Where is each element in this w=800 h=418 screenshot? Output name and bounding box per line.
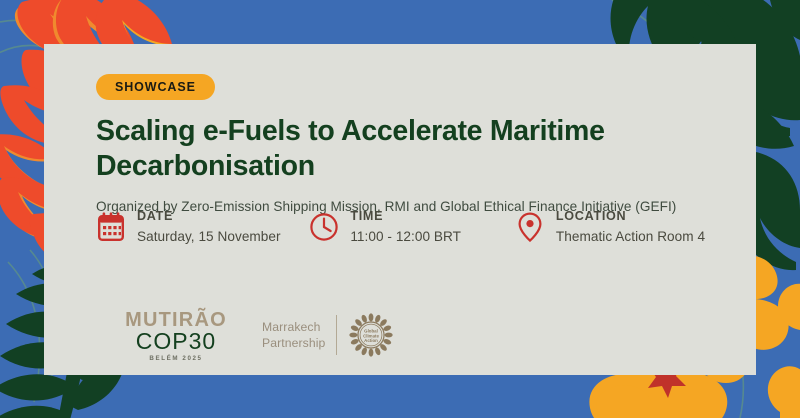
calendar-icon: [96, 210, 126, 244]
meta-item-date: DATE Saturday, 15 November: [96, 208, 309, 246]
page-title: Scaling e-Fuels to Accelerate Maritime D…: [96, 114, 696, 184]
location-pin-icon: [515, 210, 545, 244]
meta-value-date: Saturday, 15 November: [137, 227, 281, 247]
event-card: SHOWCASE Scaling e-Fuels to Accelerate M…: [44, 44, 756, 375]
meta-label-date: DATE: [137, 209, 281, 225]
logo-divider: [336, 315, 337, 355]
meta-item-location: LOCATION Thematic Action Room 4: [515, 208, 736, 246]
svg-text:Action: Action: [365, 338, 379, 343]
meta-item-time: TIME 11:00 - 12:00 BRT: [309, 208, 515, 246]
meta-value-location: Thematic Action Room 4: [556, 227, 705, 247]
cop30-logo: MUTIRÃO COP30 BELÉM 2025: [120, 306, 232, 364]
partnership-line2: Partnership: [262, 335, 325, 351]
logo-row: MUTIRÃO COP30 BELÉM 2025 Marrakech Partn…: [120, 306, 394, 364]
global-climate-action-seal: Global Climate Action: [348, 312, 394, 358]
meta-label-time: TIME: [350, 209, 461, 225]
meta-value-time: 11:00 - 12:00 BRT: [350, 227, 461, 247]
meta-label-location: LOCATION: [556, 209, 705, 225]
event-banner: SHOWCASE Scaling e-Fuels to Accelerate M…: [0, 0, 800, 418]
marrakech-partnership-logo: Marrakech Partnership Global Climate Act…: [262, 312, 394, 358]
svg-text:COP30: COP30: [136, 328, 216, 354]
showcase-badge: SHOWCASE: [96, 74, 215, 100]
partnership-line1: Marrakech: [262, 319, 325, 335]
svg-text:BELÉM 2025: BELÉM 2025: [149, 354, 202, 362]
clock-icon: [309, 210, 339, 244]
event-meta-row: DATE Saturday, 15 November TIME 11:00 - …: [96, 208, 736, 246]
